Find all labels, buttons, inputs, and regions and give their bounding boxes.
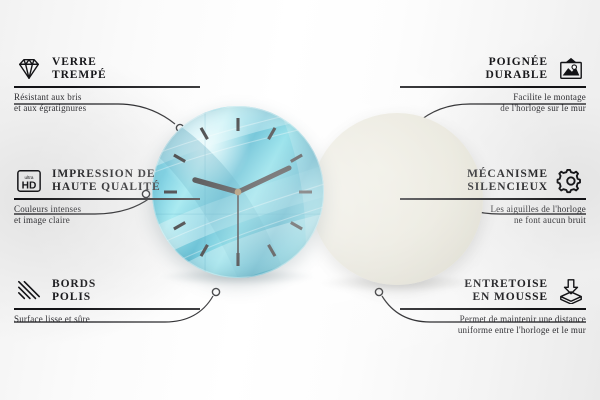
hanging-frame-icon — [556, 56, 586, 82]
callout-subtitle: Résistant aux bris et aux égratignures — [14, 92, 200, 114]
callout-rule — [14, 86, 200, 88]
callout-title: MÉCANISME SILENCIEUX — [467, 168, 548, 194]
callout-subtitle: Permet de maintenir une distance uniform… — [400, 314, 586, 336]
svg-text:HD: HD — [22, 180, 37, 191]
callout-title: ENTRETOISE EN MOUSSE — [464, 278, 548, 304]
callout-impression-haute-qualite: ultra HD IMPRESSION DE HAUTE QUALITÉ Cou… — [14, 168, 200, 226]
foam-spacer-arrow-icon — [556, 278, 586, 304]
callout-title: POIGNÉE DURABLE — [485, 56, 548, 82]
hand-hub — [235, 189, 242, 196]
gear-icon — [556, 168, 586, 194]
callout-rule — [400, 308, 586, 310]
ultra-hd-badge-icon: ultra HD — [14, 168, 44, 194]
minute-hand — [238, 168, 289, 192]
hour-hand — [195, 180, 238, 192]
callout-rule — [400, 198, 586, 200]
infographic-canvas: VERRE TREMPÉ Résistant aux bris et aux é… — [0, 0, 600, 400]
svg-text:ultra: ultra — [25, 175, 34, 180]
callout-rule — [14, 308, 200, 310]
callout-subtitle: Facilite le montage de l'horloge sur le … — [400, 92, 586, 114]
callout-title: IMPRESSION DE HAUTE QUALITÉ — [52, 168, 161, 194]
callout-rule — [400, 86, 586, 88]
callout-subtitle: Surface lisse et sûre — [14, 314, 200, 325]
callout-poignee-durable: POIGNÉE DURABLE Facilite le montage de l… — [400, 56, 586, 114]
callout-subtitle: Couleurs intenses et image claire — [14, 204, 200, 226]
callout-bords-polis: BORDS POLIS Surface lisse et sûre — [14, 278, 200, 325]
callout-title: VERRE TREMPÉ — [52, 56, 107, 82]
callout-subtitle: Les aiguilles de l'horloge ne font aucun… — [400, 204, 586, 226]
polished-edges-icon — [14, 278, 44, 304]
callout-verre-trempe: VERRE TREMPÉ Résistant aux bris et aux é… — [14, 56, 200, 114]
diamond-icon — [14, 56, 44, 82]
callout-mecanisme-silencieux: MÉCANISME SILENCIEUX Les aiguilles de l'… — [400, 168, 586, 226]
callout-rule — [14, 198, 200, 200]
callout-entretoise-en-mousse: ENTRETOISE EN MOUSSE Permet de maintenir… — [400, 278, 586, 336]
callout-title: BORDS POLIS — [52, 278, 96, 304]
